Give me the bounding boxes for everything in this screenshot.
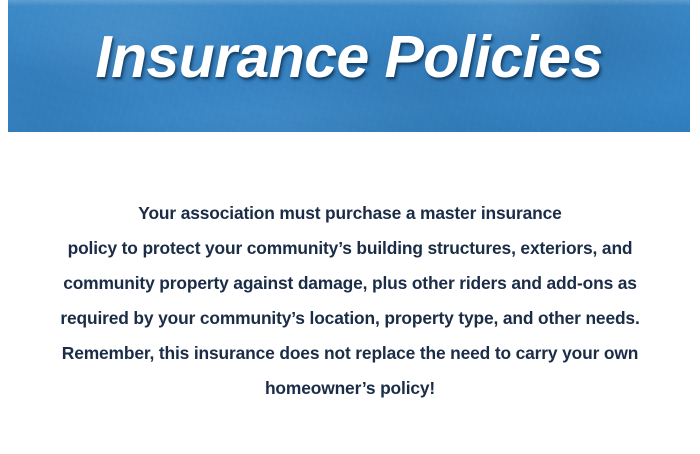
- body-line: community property against damage, plus …: [0, 266, 700, 301]
- body-line: required by your community’s location, p…: [0, 301, 700, 336]
- body-line: homeowner’s policy!: [0, 371, 700, 406]
- body-line: Your association must purchase a master …: [0, 196, 700, 231]
- body-line: Remember, this insurance does not replac…: [0, 336, 700, 371]
- page-title: Insurance Policies: [8, 26, 690, 90]
- page-header-banner: Insurance Policies: [8, 0, 690, 132]
- page-root: Insurance Policies Your association must…: [0, 0, 700, 454]
- body-line: policy to protect your community’s build…: [0, 231, 700, 266]
- body-paragraph: Your association must purchase a master …: [0, 196, 700, 406]
- banner-top-sheen: [8, 0, 690, 6]
